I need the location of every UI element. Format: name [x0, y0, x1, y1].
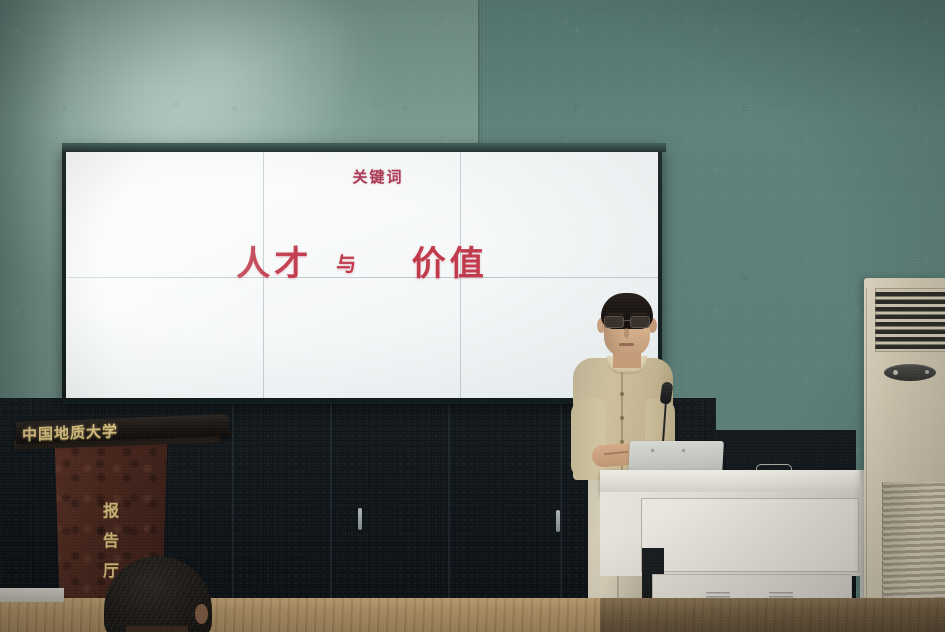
slide-keyword-heading: 关键词	[66, 166, 658, 187]
speaker-eyebrow-right	[631, 313, 647, 315]
air-conditioner-seam	[866, 288, 867, 628]
laptop-screw	[682, 449, 685, 452]
glasses-lens-left	[604, 316, 624, 328]
slide-keyword-text: 关键词	[352, 168, 403, 186]
audience-neck	[126, 626, 188, 632]
wall-baseboard	[0, 588, 64, 602]
speaker-shirt-button	[620, 392, 624, 396]
slide-main-title: 人才 与 价值	[66, 236, 658, 285]
podium-hall-char-2: 告	[96, 526, 126, 556]
slide-title-conjunction: 与	[328, 252, 366, 276]
air-conditioner-top-vents	[875, 288, 945, 352]
wall-top-shading	[0, 0, 945, 120]
air-conditioner-indicator-secondary	[925, 370, 929, 374]
glasses-lens-right	[630, 316, 650, 328]
lectern-front-panel	[641, 498, 859, 572]
speaker-nose	[624, 328, 629, 338]
lecture-hall-photo: 关键词 人才 与 价值 中国地质大学 报 告 厅	[0, 0, 945, 632]
speaker-shirt-button	[620, 416, 624, 420]
slide-title-part2: 价值	[412, 244, 488, 284]
podium-institution-text: 中国地质大学	[22, 420, 118, 445]
floor-shadow-right	[600, 598, 945, 632]
video-wall-top-edge	[62, 143, 666, 152]
podium-hall-char-1: 报	[96, 496, 126, 526]
lectern-top	[600, 470, 902, 494]
speaker-eyebrow-left	[608, 313, 624, 315]
slide-title-part1: 人才	[236, 244, 312, 284]
video-wall-screen[interactable]: 关键词 人才 与 价值	[66, 152, 658, 398]
speaker-mouth	[619, 343, 634, 346]
audience-ear	[195, 604, 208, 624]
glasses-bridge	[622, 320, 630, 321]
air-conditioner-indicator	[893, 370, 898, 375]
laptop-screw	[651, 449, 654, 452]
glasses-icon	[603, 316, 651, 326]
